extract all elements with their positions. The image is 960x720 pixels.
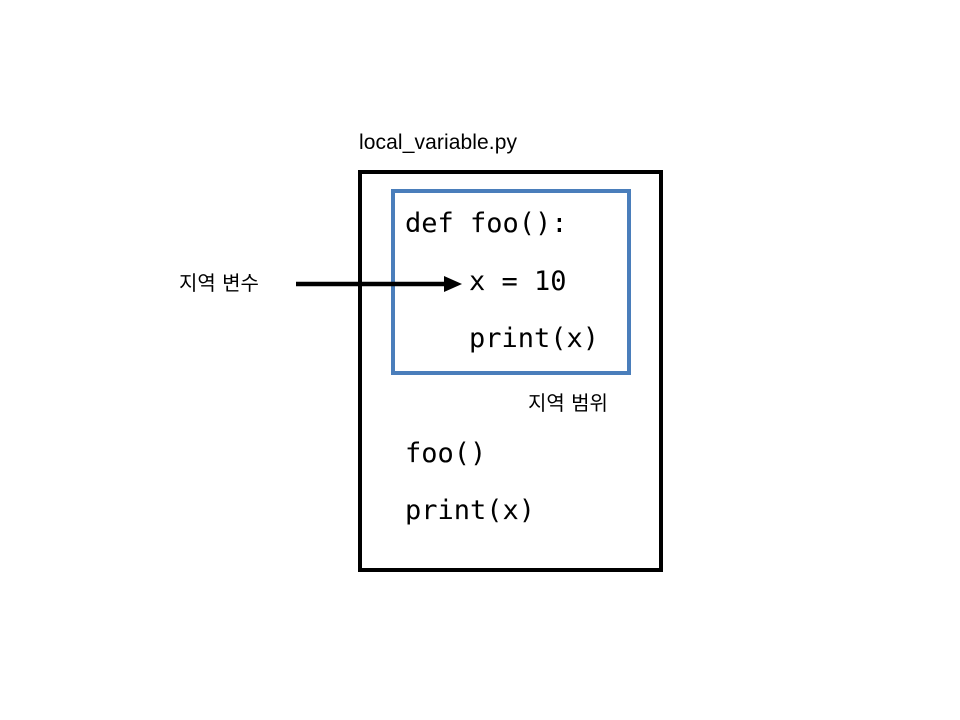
annotation-label-local-variable: 지역 변수 <box>179 270 259 296</box>
annotation-arrow-icon <box>294 271 466 297</box>
arrow-head <box>444 276 462 292</box>
code-line-print-outside: print(x) <box>405 496 535 526</box>
code-line-foo-call: foo() <box>405 439 486 469</box>
code-line-print-inside: print(x) <box>469 324 599 354</box>
file-title-label: local_variable.py <box>359 130 517 156</box>
annotation-label-local-scope: 지역 범위 <box>528 390 608 416</box>
code-line-def-foo: def foo(): <box>405 209 568 239</box>
slide-canvas: local_variable.py def foo(): x = 10 prin… <box>0 0 960 720</box>
code-line-x-assign: x = 10 <box>469 267 567 297</box>
